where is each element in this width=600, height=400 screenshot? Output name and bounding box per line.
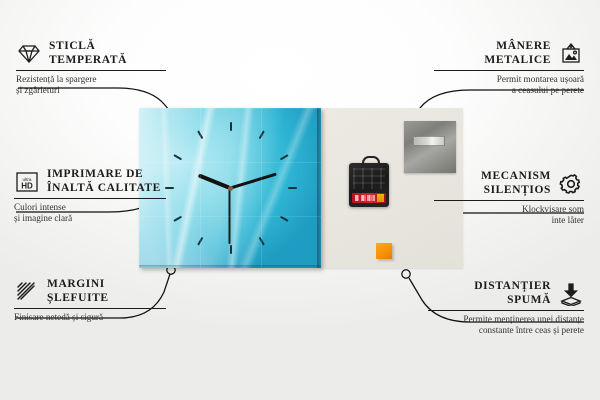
clock-hour-hand <box>198 173 231 189</box>
callout-head: DISTANȚIER SPUMĂ <box>428 280 584 307</box>
sub-line-1: Permite menținerea unei distanțe <box>428 314 584 325</box>
callout-head: STICLĂ TEMPERATĂ <box>16 40 166 67</box>
callout-subtitle: Klockvisare som inte låter <box>434 204 584 226</box>
callout-title: IMPRIMARE DE ÎNALTĂ CALITATE <box>47 168 161 195</box>
callout-head: ultra HD IMPRIMARE DE ÎNALTĂ CALITATE <box>14 168 166 195</box>
sub-line-1: Culori intense <box>14 202 166 213</box>
callout-hd-print: ultra HD IMPRIMARE DE ÎNALTĂ CALITATE Cu… <box>14 168 166 224</box>
callout-head: MÂNERE METALICE <box>434 40 584 67</box>
callout-subtitle: Culori intense și imagine clară <box>14 202 166 224</box>
callout-foam-spacer: DISTANȚIER SPUMĂ Permite menținerea unei… <box>428 280 584 336</box>
clock-minute-hand <box>230 173 277 190</box>
callout-silent-mechanism: MECANISM SILENȚIOS Klockvisare som inte … <box>434 170 584 226</box>
callout-subtitle: Finisare netedă și sigură <box>14 312 166 323</box>
clock-face <box>139 108 321 268</box>
title-line-1: STICLĂ <box>49 40 127 54</box>
callout-head: MARGINI ȘLEFUITE <box>14 278 166 305</box>
sub-line-1: Klockvisare som <box>434 204 584 215</box>
title-line-2: ÎNALTĂ CALITATE <box>47 182 161 196</box>
clock-second-hand <box>229 188 231 244</box>
connector-dot-foam-spacer <box>402 270 410 278</box>
callout-rule <box>428 310 584 311</box>
sub-line-1: Finisare netedă și sigură <box>14 312 166 323</box>
callout-rule <box>434 200 584 201</box>
title-line-1: MECANISM <box>481 170 551 184</box>
callout-title: DISTANȚIER SPUMĂ <box>474 280 551 307</box>
product-image <box>139 108 463 268</box>
callout-title: MARGINI ȘLEFUITE <box>47 278 109 305</box>
ultra-hd-icon: ultra HD <box>14 170 40 194</box>
foam-spacer-block <box>376 243 392 259</box>
sub-line-2: constante între ceas și perete <box>428 325 584 336</box>
arrow-down-layer-icon <box>558 282 584 306</box>
callout-tempered-glass: STICLĂ TEMPERATĂ Rezistență la spargere … <box>16 40 166 96</box>
callout-rule <box>14 308 166 309</box>
metal-hanger-plate <box>404 121 456 173</box>
callout-rule <box>434 70 584 71</box>
glass-bottom-edge <box>139 265 321 268</box>
callout-subtitle: Permit montarea ușoară a ceasului pe per… <box>434 74 584 96</box>
callout-head: MECANISM SILENȚIOS <box>434 170 584 197</box>
title-line-2: SILENȚIOS <box>481 184 551 198</box>
sub-line-1: Permit montarea ușoară <box>434 74 584 85</box>
title-line-1: MÂNERE <box>484 40 551 54</box>
clock-movement <box>349 163 389 207</box>
callout-title: MÂNERE METALICE <box>484 40 551 67</box>
title-line-1: DISTANȚIER <box>474 280 551 294</box>
sub-line-2: a ceasului pe perete <box>434 85 584 96</box>
callout-subtitle: Permite menținerea unei distanțe constan… <box>428 314 584 336</box>
callout-rule <box>16 70 166 71</box>
hanger-slot <box>413 136 445 146</box>
title-line-2: ȘLEFUITE <box>47 292 109 306</box>
sub-line-2: inte låter <box>434 215 584 226</box>
svg-text:HD: HD <box>21 181 33 190</box>
gear-icon <box>558 172 584 196</box>
callout-polished-edges: MARGINI ȘLEFUITE Finisare netedă și sigu… <box>14 278 166 323</box>
battery <box>352 193 386 203</box>
title-line-2: METALICE <box>484 54 551 68</box>
callout-subtitle: Rezistență la spargere și zgârieturi <box>16 74 166 96</box>
sub-line-1: Rezistență la spargere <box>16 74 166 85</box>
movement-hook <box>362 156 380 167</box>
polished-edge-icon <box>14 280 40 304</box>
title-line-2: SPUMĂ <box>474 294 551 308</box>
title-line-2: TEMPERATĂ <box>49 54 127 68</box>
title-line-1: MARGINI <box>47 278 109 292</box>
sub-line-2: și imagine clară <box>14 213 166 224</box>
glass-right-edge <box>317 108 321 268</box>
callout-rule <box>14 198 166 199</box>
sub-line-2: și zgârieturi <box>16 85 166 96</box>
infographic-stage: STICLĂ TEMPERATĂ Rezistență la spargere … <box>0 0 600 400</box>
diamond-icon <box>16 42 42 66</box>
battery-label <box>355 195 375 201</box>
movement-texture <box>353 168 385 189</box>
picture-hanger-icon <box>558 42 584 66</box>
callout-metal-handles: MÂNERE METALICE Permit montarea ușoară a… <box>434 40 584 96</box>
callout-title: MECANISM SILENȚIOS <box>481 170 551 197</box>
callout-title: STICLĂ TEMPERATĂ <box>49 40 127 67</box>
clock-center-pin <box>228 186 233 191</box>
title-line-1: IMPRIMARE DE <box>47 168 161 182</box>
